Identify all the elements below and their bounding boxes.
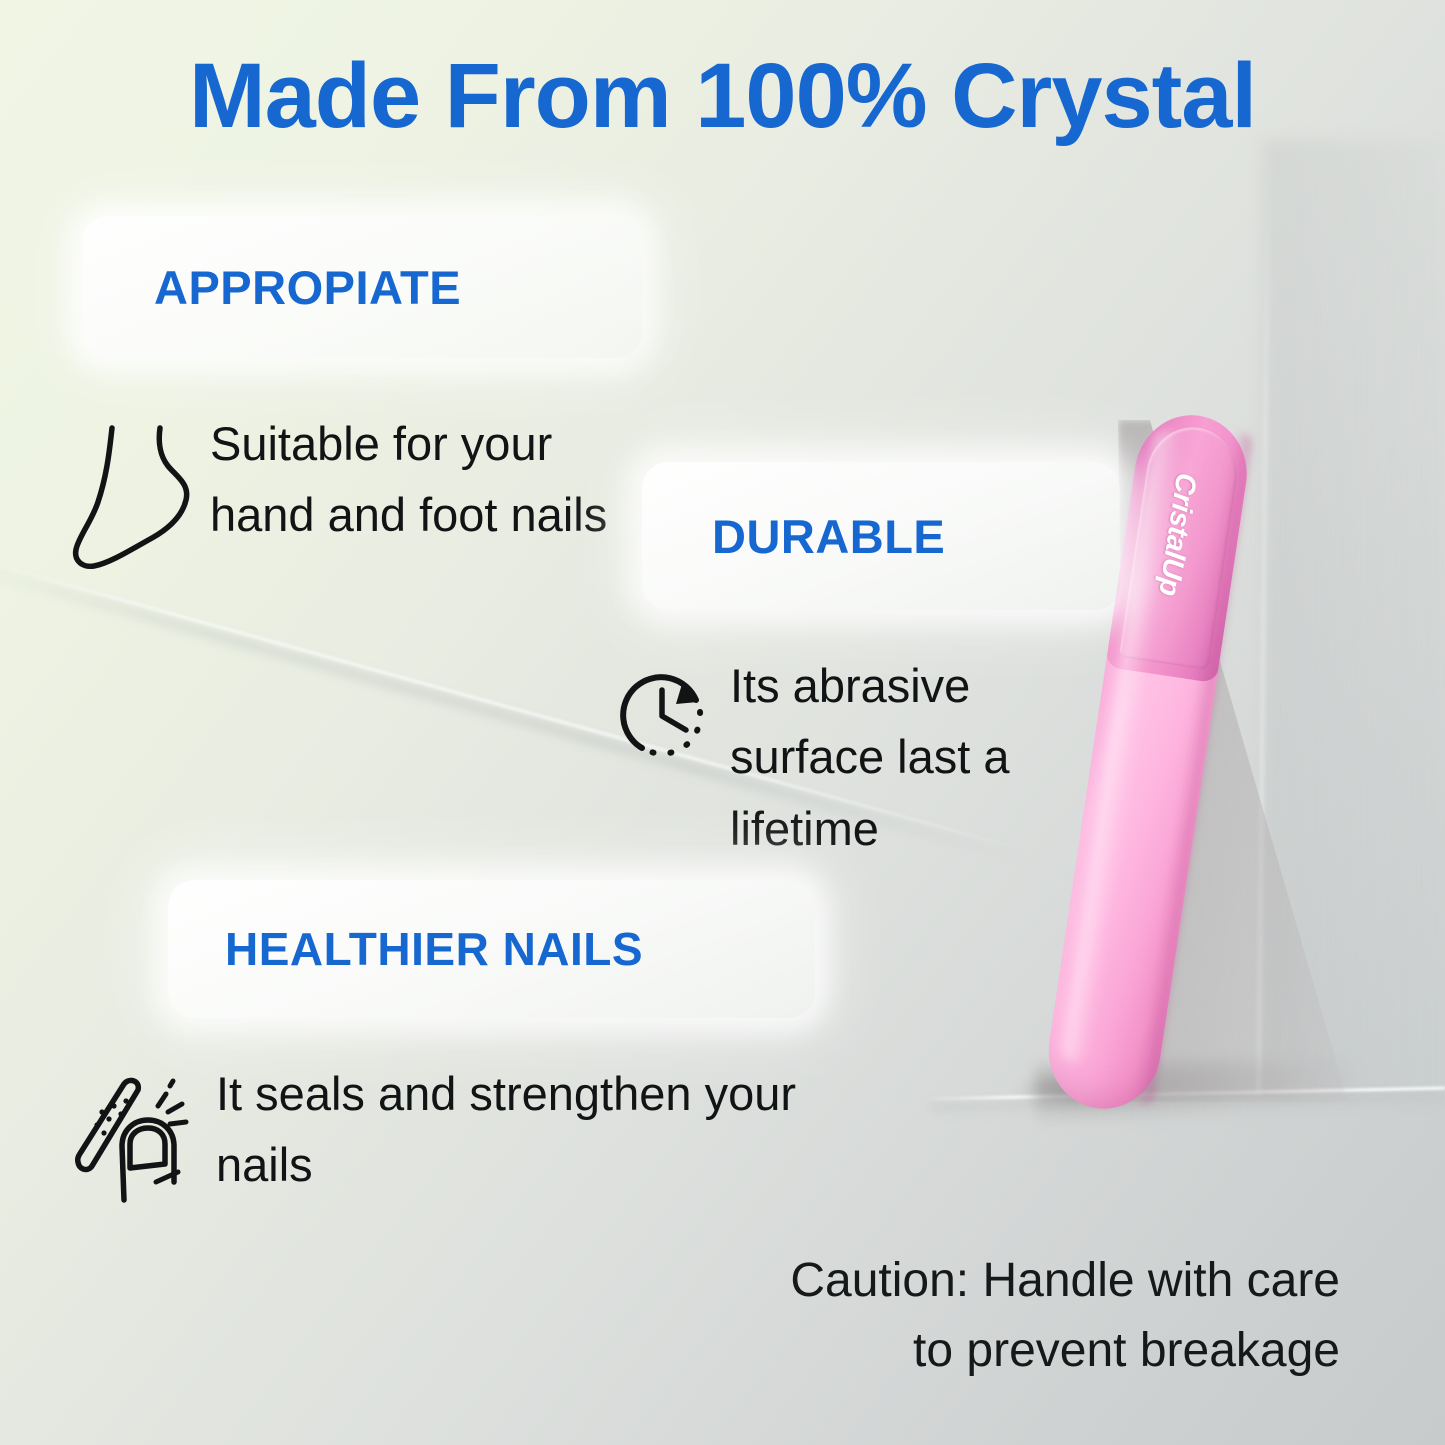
title-part-bold: 100% Crystal	[695, 45, 1256, 147]
feature-seals-and-strengthens: It seals and strengthen your nails	[70, 1058, 856, 1213]
badge-durable-label: DURABLE	[712, 509, 945, 564]
feature-suitable-text: Suitable for your hand and foot nails	[210, 408, 610, 551]
badge-healthier-nails: HEALTHIER NAILS	[168, 880, 815, 1018]
title-part-light: Made From	[189, 45, 695, 147]
page-title: Made From 100% Crystal	[0, 48, 1445, 145]
caution-line-1: Caution: Handle with care	[600, 1246, 1340, 1316]
infographic-canvas: Made From 100% Crystal CristalUp APPROPI…	[0, 0, 1445, 1445]
badge-healthier-nails-label: HEALTHIER NAILS	[225, 922, 643, 976]
caution-line-2: to prevent breakage	[600, 1316, 1340, 1386]
badge-durable: DURABLE	[642, 462, 1120, 610]
feature-abrasive-surface-lifetime: Its abrasive surface last a lifetime	[612, 650, 1050, 864]
feature-suitable-for-hand-and-foot: Suitable for your hand and foot nails	[68, 408, 610, 581]
badge-appropiate-label: APPROPIATE	[154, 260, 461, 315]
clock-history-icon	[612, 660, 716, 769]
badge-appropiate: APPROPIATE	[82, 216, 642, 358]
feature-seals-text: It seals and strengthen your nails	[216, 1058, 856, 1201]
feature-durable-text: Its abrasive surface last a lifetime	[730, 650, 1050, 864]
foot-outline-icon	[68, 416, 194, 581]
nail-file-filing-icon	[70, 1072, 196, 1213]
caution-note: Caution: Handle with care to prevent bre…	[600, 1246, 1340, 1386]
